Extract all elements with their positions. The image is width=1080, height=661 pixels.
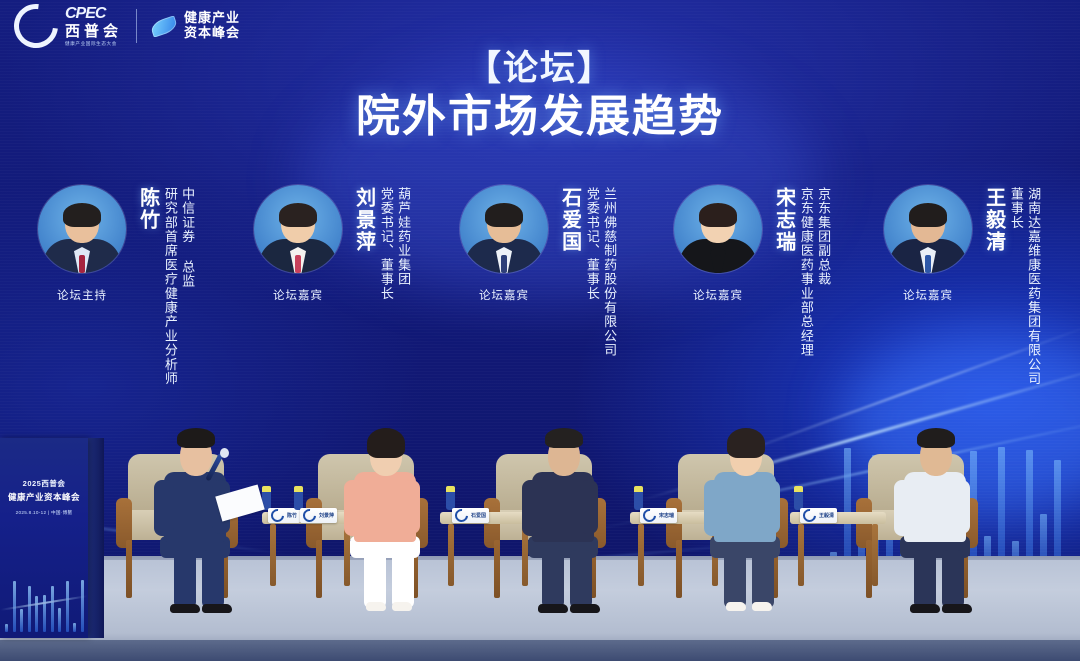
panelist-name: 刘景萍 <box>352 187 374 253</box>
cpec-ring-icon <box>300 506 318 524</box>
portrait-chen-zhu <box>38 185 126 273</box>
cpec-ring-icon <box>268 506 286 524</box>
banner-pole <box>88 438 104 638</box>
panelist-card: 论坛主持陈竹中信证券 总监研究部首席医疗健康产业分析师 <box>30 185 195 386</box>
panelist-title-column: 湖南达嘉维康医药集团有限公司 <box>1025 187 1041 386</box>
health-capital-summit-logo: 健康产业 资本峰会 <box>151 11 240 40</box>
header-logos: CPEC 西普会 健康产业国际生态大会 健康产业 资本峰会 <box>14 4 240 48</box>
portrait-wang-yiqing <box>884 185 972 273</box>
seated-panelist <box>340 418 450 618</box>
portrait-liu-jingping <box>254 185 342 273</box>
logo-divider <box>136 9 137 43</box>
name-plate-text: 刘景萍 <box>319 512 334 519</box>
name-plate-text: 石爱国 <box>471 512 486 519</box>
seated-panelist <box>700 418 810 618</box>
cpec-ring-icon <box>800 506 818 524</box>
panelist-title-column: 兰州佛慈制药股份有限公司 <box>601 187 617 357</box>
seated-panelist <box>890 418 1000 618</box>
panelist-title-column: 京东健康医药事业部总经理 <box>798 187 814 357</box>
name-plate: 王毅清 <box>800 508 837 523</box>
name-plate: 石爱国 <box>452 508 489 523</box>
cpec-logo-subtitle: 健康产业国际生态大会 <box>65 42 122 47</box>
panelist-titles: 兰州佛慈制药股份有限公司党委书记、董事长 <box>583 187 618 357</box>
leaf-icon <box>149 15 178 37</box>
forum-title: 【论坛】 院外市场发展趋势 <box>0 48 1080 144</box>
summit-logo-line1: 健康产业 <box>184 11 240 26</box>
panelist-title-column: 党委书记、董事长 <box>584 187 600 357</box>
rollup-banner: 2025西普会 健康产业资本峰会 2025.8.10-12 | 中国·博鳌 <box>0 438 88 638</box>
name-plate: 陈竹 <box>268 508 300 523</box>
panelist-name: 王毅清 <box>982 187 1004 253</box>
stage-floor-edge <box>0 640 1080 661</box>
portrait-song-zhirui <box>674 185 762 273</box>
water-bottle <box>294 486 303 510</box>
cpec-logo: CPEC 西普会 健康产业国际生态大会 <box>14 4 122 48</box>
panelist-role: 论坛嘉宾 <box>479 287 529 303</box>
panelist-title-column: 中信证券 总监 <box>179 187 195 386</box>
panelist-titles: 中信证券 总监研究部首席医疗健康产业分析师 <box>161 187 196 386</box>
panelist-title-column: 董事长 <box>1008 187 1024 386</box>
forum-title-line2: 院外市场发展趋势 <box>0 91 1080 144</box>
panelist-name: 宋志瑞 <box>772 187 794 253</box>
panelist-titles: 葫芦娃药业集团党委书记、董事长 <box>377 187 412 301</box>
banner-chart-graphic <box>0 568 88 638</box>
banner-line1: 2025西普会 <box>4 478 84 489</box>
banner-line2: 健康产业资本峰会 <box>4 491 84 503</box>
panelist-card: 论坛嘉宾宋志瑞京东集团副总裁京东健康医药事业部总经理 <box>666 185 831 357</box>
cpec-logo-chinese: 西普会 <box>65 24 122 39</box>
cpec-ring-icon <box>640 506 658 524</box>
name-plate-text: 陈竹 <box>287 512 297 519</box>
panelist-card: 论坛嘉宾刘景萍葫芦娃药业集团党委书记、董事长 <box>246 185 411 303</box>
name-plate: 宋志瑞 <box>640 508 677 523</box>
panelist-title-column: 葫芦娃药业集团 <box>395 187 411 301</box>
cpec-logo-english: CPEC <box>65 6 122 22</box>
panelist-role: 论坛嘉宾 <box>903 287 953 303</box>
seated-panelist <box>518 418 628 618</box>
forum-title-line1: 【论坛】 <box>0 48 1080 89</box>
panelist-card: 论坛嘉宾石爱国兰州佛慈制药股份有限公司党委书记、董事长 <box>452 185 617 357</box>
water-bottle <box>634 486 643 510</box>
panelist-role: 论坛嘉宾 <box>693 287 743 303</box>
water-bottle <box>446 486 455 510</box>
portrait-shi-aiguo <box>460 185 548 273</box>
banner-date: 2025.8.10-12 | 中国·博鳌 <box>4 510 84 516</box>
name-plate: 刘景萍 <box>300 508 337 523</box>
name-plate-text: 王毅清 <box>819 512 834 519</box>
seated-panelist <box>150 418 260 618</box>
microphone-head-icon <box>220 448 229 458</box>
cpec-ring-icon <box>452 506 470 524</box>
summit-logo-line2: 资本峰会 <box>184 26 240 41</box>
conference-stage-photo: CPEC 西普会 健康产业国际生态大会 健康产业 资本峰会 【论坛】 院外市场发… <box>0 0 1080 661</box>
panelist-card: 论坛嘉宾王毅清湖南达嘉维康医药集团有限公司董事长 <box>876 185 1041 386</box>
panelist-title-column: 京东集团副总裁 <box>815 187 831 357</box>
panelist-name: 陈竹 <box>136 187 158 231</box>
panelist-role: 论坛主持 <box>57 287 107 303</box>
panelist-name: 石爱国 <box>558 187 580 253</box>
panelist-strip: 论坛主持陈竹中信证券 总监研究部首席医疗健康产业分析师论坛嘉宾刘景萍葫芦娃药业集… <box>0 185 1080 425</box>
panelist-title-column: 党委书记、董事长 <box>378 187 394 301</box>
panelist-title-column: 研究部首席医疗健康产业分析师 <box>162 187 178 386</box>
panelist-titles: 湖南达嘉维康医药集团有限公司董事长 <box>1007 187 1042 386</box>
name-plate-text: 宋志瑞 <box>659 512 674 519</box>
panelist-titles: 京东集团副总裁京东健康医药事业部总经理 <box>797 187 832 357</box>
panelist-role: 论坛嘉宾 <box>273 287 323 303</box>
water-bottle <box>794 486 803 510</box>
